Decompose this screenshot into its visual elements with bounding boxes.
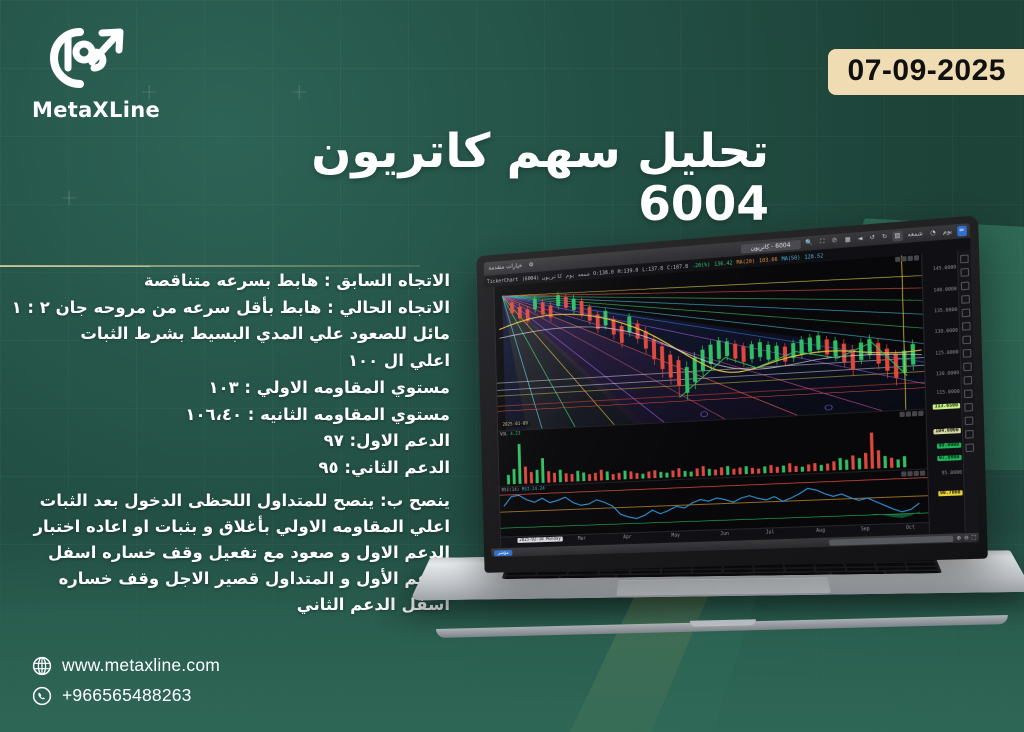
analysis-line: مائل للصعود علي المدي البسيط بشرط الثبات	[10, 321, 450, 348]
crosshair-icon[interactable]	[960, 268, 969, 277]
time-tick: Sep	[861, 527, 870, 532]
price-tick: 115.0000	[936, 389, 959, 395]
legend-open: O:138.0	[593, 269, 614, 276]
volume-label: VOL 4.23	[500, 432, 520, 438]
search-icon[interactable]: 🔍	[803, 238, 815, 249]
legend-ma-fast-label: MA(20)	[736, 258, 755, 265]
timeframe-button[interactable]: يوم	[941, 227, 954, 238]
pattern-icon[interactable]	[962, 322, 971, 331]
legend-ma-slow-value: 128.52	[804, 253, 823, 261]
cursor-icon[interactable]	[960, 254, 969, 263]
time-tick: Mar	[578, 537, 586, 542]
price-tick: 140.0000	[933, 287, 956, 294]
legend-ma-fast-value: 103.66	[759, 256, 778, 263]
analysis-recommendation: ينصح ب: ينصح للمتداول اللحظى الدخول بعد …	[10, 488, 450, 618]
laptop-mockup: ✏ يوم ◔ شمعه ▨ ↻ ↺ ◄ ▦ ℗ ⛶ 🔍 6004 - كاتر…	[432, 236, 1012, 636]
price-tick: 120.0000	[936, 371, 959, 378]
layout-icon[interactable]: ▨	[892, 231, 902, 242]
laptop-trackpad	[616, 577, 830, 595]
analysis-line: الدعم الثاني: ٩٥	[10, 455, 450, 482]
phone-row[interactable]: +966565488263	[32, 685, 220, 706]
laptop-lid: ✏ يوم ◔ شمعه ▨ ↻ ↺ ◄ ▦ ℗ ⛶ 🔍 6004 - كاتر…	[476, 215, 988, 573]
plus-decor-icon: +	[290, 82, 308, 104]
gear-icon[interactable]: ⚙	[527, 260, 536, 270]
interval-button[interactable]: شمعه	[905, 229, 925, 241]
analysis-text-block: الاتجاه السابق : هابط بسرعه متناقصة الات…	[10, 268, 450, 618]
price-tag: 104.6000	[933, 428, 961, 435]
fullscreen-icon[interactable]: ⛶	[818, 237, 827, 248]
symbol-selector[interactable]: 6004 - كاتريون	[741, 239, 801, 253]
trash-icon[interactable]	[965, 443, 974, 452]
website-label: www.metaxline.com	[62, 655, 220, 676]
legend-ma-slow-label: MA(50)	[782, 255, 801, 263]
trendline-icon[interactable]	[961, 281, 970, 290]
indicator-button[interactable]: مؤشر	[494, 549, 513, 555]
price-tick: 125.0000	[935, 350, 958, 357]
pane-controls[interactable]	[901, 470, 925, 476]
timeline-scrollbar[interactable]	[829, 535, 953, 545]
analysis-line: الاتجاه الحالي : هابط بأقل سرعه من مروحه…	[10, 295, 450, 322]
clock-icon[interactable]: ◔	[928, 228, 938, 239]
price-tick: 130.0000	[935, 329, 958, 336]
legend-change-pct: -20(%)	[692, 262, 710, 269]
legend-source: TickerChart	[487, 277, 518, 285]
legend-close: C:107.8	[667, 263, 688, 271]
price-tick: 95.0000	[942, 471, 963, 477]
legend-high: H:139.0	[617, 267, 638, 275]
website-row[interactable]: www.metaxline.com	[32, 655, 220, 676]
undo-icon[interactable]: ↺	[867, 233, 877, 244]
poster-root: + + + MetaXLine 07-09-2025 تحليل سهم كات…	[0, 0, 1024, 732]
price-tick: 145.0000	[933, 266, 956, 273]
legend-change-value: 136.42	[714, 260, 733, 267]
chart-panes: 2025-01-09 VOL 4.23	[494, 254, 929, 547]
time-axis-current: 2025-02-10 Monday	[517, 537, 562, 543]
chart-application: ✏ يوم ◔ شمعه ▨ ↻ ↺ ◄ ▦ ℗ ⛶ 🔍 6004 - كاتر…	[484, 223, 979, 557]
time-tick: May	[671, 534, 680, 539]
time-tick: Jun	[720, 532, 729, 537]
chart-arrow-logo-icon	[50, 22, 134, 94]
zoom-in-icon[interactable]: ⊕	[956, 535, 961, 541]
fit-screen-icon[interactable]: ⛶	[972, 534, 976, 540]
indicators-icon[interactable]: ℗	[829, 236, 839, 247]
time-tick: Oct	[906, 526, 915, 531]
phone-label: +966565488263	[62, 685, 192, 706]
price-tag: 97.0000	[937, 455, 962, 461]
analysis-line: اعلي ال ١٠٠	[10, 348, 450, 375]
settings-label[interactable]: خيارات متقدمة	[486, 261, 524, 274]
price-tag: 99.0000	[937, 442, 962, 448]
analysis-line: مستوي المقاومه الاولي : ١٠٣	[10, 375, 450, 402]
brush-icon[interactable]	[963, 349, 972, 358]
compare-icon[interactable]: ◄	[856, 234, 865, 245]
price-tag: 90.7060	[938, 490, 963, 496]
legend-timeframe: شمعه يوم	[566, 271, 590, 279]
analysis-line: الدعم الاول: ٩٧	[10, 428, 450, 455]
divider-line-accent	[0, 266, 150, 267]
redo-icon[interactable]: ↻	[880, 232, 890, 243]
legend-low: L:137.8	[642, 265, 663, 273]
brand-name: MetaXLine	[32, 98, 152, 122]
eye-icon[interactable]	[965, 416, 974, 425]
price-tag: 113.6500	[933, 403, 961, 410]
ruler-icon[interactable]	[964, 389, 973, 398]
legend-symbol: كاتريون (6004)	[522, 273, 563, 282]
analysis-line: مستوي المقاومه الثانيه : ١٠٦،٤٠	[10, 402, 450, 429]
app-body: 2025-01-09 VOL 4.23	[484, 250, 978, 548]
page-title: تحليل سهم كاتريون 6004	[249, 126, 769, 231]
text-icon[interactable]	[963, 362, 972, 371]
flag-icon[interactable]	[964, 376, 973, 385]
brand-logo: MetaXLine	[32, 22, 152, 122]
analysis-line: الاتجاه السابق : هابط بسرعه متناقصة	[10, 268, 450, 295]
time-tick: Apr	[623, 535, 631, 540]
plus-decor-icon: +	[60, 188, 78, 210]
time-tick: Jul	[766, 530, 775, 535]
date-badge: 07-09-2025	[828, 49, 1024, 95]
zoom-out-icon[interactable]: ⊖	[964, 535, 969, 541]
alert-icon[interactable]: ▦	[843, 235, 853, 246]
draw-tool-button[interactable]: ✏	[957, 226, 967, 237]
fib-icon[interactable]	[961, 295, 970, 304]
gann-icon[interactable]	[962, 335, 971, 344]
laptop-base-lip	[436, 615, 1008, 638]
time-tick: Aug	[816, 529, 825, 534]
footer-contact: www.metaxline.com +966565488263	[32, 646, 220, 706]
whatsapp-icon	[32, 686, 52, 706]
magnet-icon[interactable]	[964, 403, 973, 412]
price-tick: 135.0000	[934, 308, 957, 315]
lock-icon[interactable]	[965, 430, 974, 439]
shape-icon[interactable]	[962, 308, 971, 317]
globe-icon	[32, 656, 52, 676]
